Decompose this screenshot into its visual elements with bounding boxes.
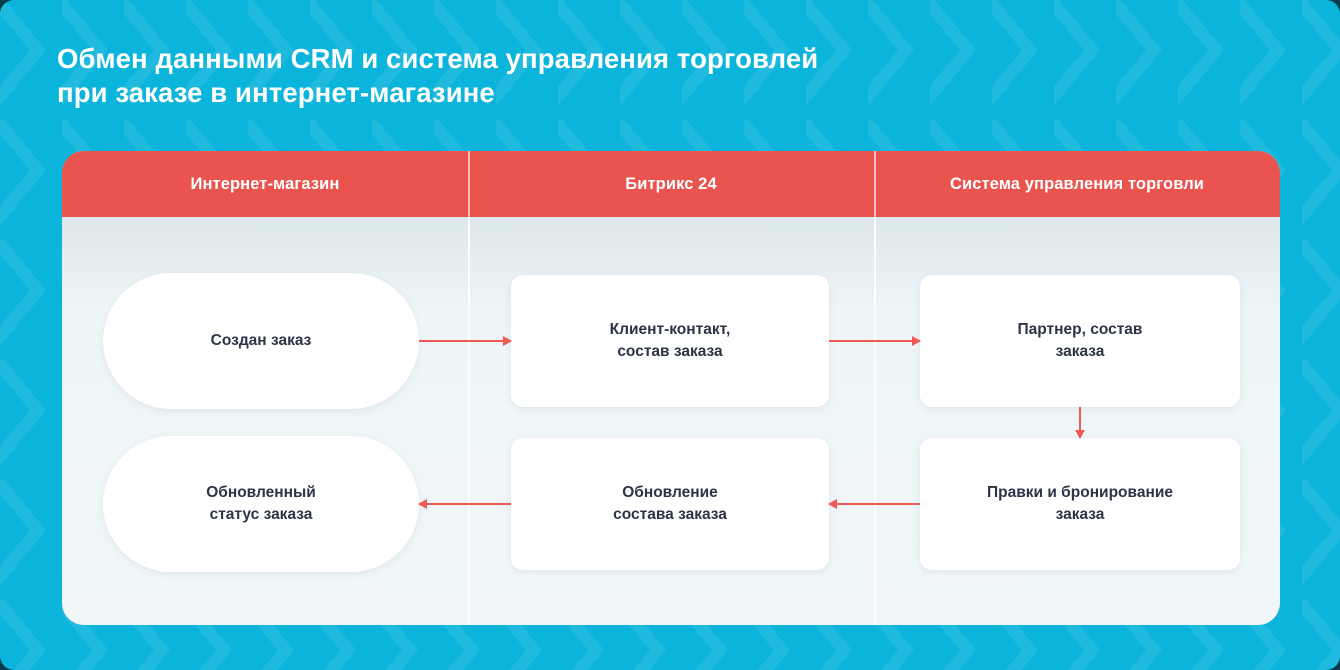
column-header-trade-management: Система управления торговли xyxy=(874,151,1280,217)
flow-panel: Интернет-магазин Битрикс 24 Система упра… xyxy=(62,151,1280,625)
page-title: Обмен данными CRM и система управления т… xyxy=(57,42,1057,110)
node-client-contact[interactable]: Клиент-контакт, состав заказа xyxy=(511,275,829,407)
arrow-order-update-to-order-status xyxy=(419,503,511,505)
node-partner-order[interactable]: Партнер, состав заказа xyxy=(920,275,1240,407)
arrowhead-icon xyxy=(828,499,837,509)
node-order-edits-booking[interactable]: Правки и бронирование заказа xyxy=(920,438,1240,570)
arrow-partner-order-to-order-booking xyxy=(1079,407,1081,438)
node-order-created[interactable]: Создан заказ xyxy=(103,273,419,409)
column-divider-2 xyxy=(874,151,876,625)
column-header-internet-shop: Интернет-магазин xyxy=(62,151,468,217)
column-divider-1 xyxy=(468,151,470,625)
arrowhead-icon xyxy=(503,336,512,346)
column-header-bitrix24: Битрикс 24 xyxy=(468,151,874,217)
arrow-client-contact-to-partner-order xyxy=(829,340,920,342)
node-updated-order-status[interactable]: Обновленный статус заказа xyxy=(103,436,419,572)
column-header-row: Интернет-магазин Битрикс 24 Система упра… xyxy=(62,151,1280,217)
arrowhead-icon xyxy=(912,336,921,346)
arrow-order-booking-to-order-update xyxy=(829,503,920,505)
arrow-order-created-to-client-contact xyxy=(419,340,511,342)
diagram-canvas: Обмен данными CRM и система управления т… xyxy=(0,0,1340,670)
node-order-composition-update[interactable]: Обновление состава заказа xyxy=(511,438,829,570)
arrowhead-icon xyxy=(418,499,427,509)
arrowhead-icon xyxy=(1075,430,1085,439)
